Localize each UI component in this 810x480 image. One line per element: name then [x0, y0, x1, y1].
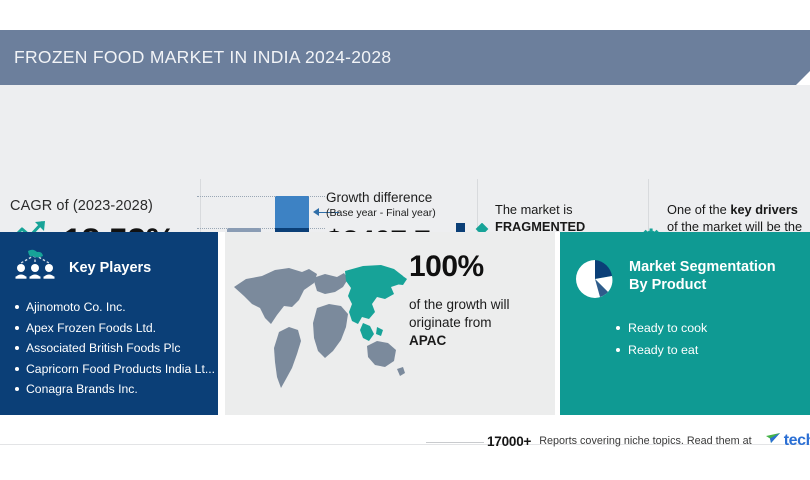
footer-accent-line: [426, 442, 484, 443]
segmentation-header: Market Segmentation By Product: [560, 232, 810, 305]
key-players-panel: Key Players Ajinomoto Co. Inc. Apex Froz…: [0, 232, 218, 415]
pie-chart-icon: [574, 258, 616, 305]
fragmented-line-1: The market is: [495, 202, 620, 219]
growth-difference-title: Growth difference: [326, 190, 466, 206]
key-players-list: Ajinomoto Co. Inc. Apex Frozen Foods Ltd…: [0, 297, 218, 400]
bar-2028-growth-segment: [275, 196, 309, 228]
segmentation-title: Market Segmentation By Product: [629, 258, 789, 294]
segmentation-list: Ready to cook Ready to eat: [560, 317, 810, 361]
technavio-arrow-icon: [766, 432, 781, 450]
cagr-label: CAGR of (2023-2028): [10, 198, 195, 214]
list-item: Conagra Brands Inc.: [26, 379, 218, 400]
header-corner-notch: [796, 71, 810, 85]
infographic-canvas: FROZEN FOOD MARKET IN INDIA 2024-2028 CA…: [0, 0, 810, 480]
list-item: Ready to cook: [628, 317, 810, 339]
report-count: 17000+: [487, 434, 531, 449]
lower-band: Key Players Ajinomoto Co. Inc. Apex Froz…: [0, 232, 810, 415]
list-item: Ready to eat: [628, 339, 810, 361]
segmentation-panel: Market Segmentation By Product Ready to …: [560, 232, 810, 415]
key-players-header: Key Players: [0, 232, 218, 287]
footer: 17000+ Reports covering niche topics. Re…: [0, 415, 810, 480]
list-item: Ajinomoto Co. Inc.: [26, 297, 218, 318]
growth-share-text: of the growth will originate from APAC: [409, 296, 559, 350]
network-people-icon: [12, 248, 58, 287]
growth-share-percent: 100%: [409, 250, 559, 284]
list-item: Apex Frozen Foods Ltd.: [26, 318, 218, 339]
key-players-title: Key Players: [69, 260, 151, 276]
technavio-logo[interactable]: technavi: [766, 432, 810, 450]
kpi-band: CAGR of (2023-2028) 18.52%: [0, 85, 810, 232]
list-item: Capricorn Food Products India Lt...: [26, 359, 218, 380]
apac-block: 100% of the growth will originate from A…: [409, 250, 559, 350]
growth-difference-subtitle: (Base year - Final year): [326, 206, 466, 220]
callout-arrow-head: [313, 208, 319, 216]
list-item: Associated British Foods Plc: [26, 338, 218, 359]
header-bar: FROZEN FOOD MARKET IN INDIA 2024-2028: [0, 30, 810, 85]
footer-text: Reports covering niche topics. Read them…: [539, 435, 751, 447]
page-title: FROZEN FOOD MARKET IN INDIA 2024-2028: [0, 47, 391, 68]
world-map-icon: [229, 248, 409, 398]
key-drivers-line-1: One of the key drivers: [667, 202, 810, 219]
technavio-wordmark: technavi: [784, 432, 810, 450]
region-panel: 100% of the growth will originate from A…: [225, 232, 555, 415]
